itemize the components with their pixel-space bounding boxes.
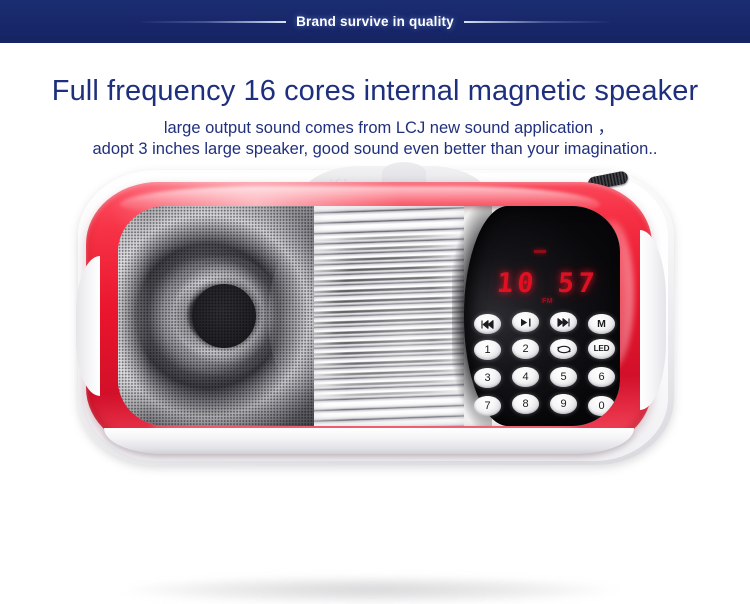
key-1-button[interactable]: 1 <box>474 340 501 360</box>
prev-track-icon <box>481 320 494 329</box>
key-9-button[interactable]: 9 <box>550 394 577 414</box>
top-banner: Brand survive in quality <box>0 0 750 43</box>
led-display: 10 57 FM <box>490 262 606 304</box>
next-track-icon <box>557 318 570 327</box>
key-7-button[interactable]: 7 <box>474 396 501 416</box>
banner-rule-right <box>464 21 609 23</box>
led-digits: 10 57 <box>496 270 600 297</box>
key-2-button[interactable]: 2 <box>512 339 539 359</box>
keypad-row-4: 7 8 9 0 <box>474 394 620 418</box>
speaker-grille <box>118 206 314 426</box>
product-image: LCJ 10 57 FM <box>0 160 750 490</box>
subtitle-line-2: adopt 3 inches large speaker, good sound… <box>0 140 750 159</box>
mode-button[interactable]: M <box>588 314 615 334</box>
key-3-button[interactable]: 3 <box>474 368 501 388</box>
key-8-button[interactable]: 8 <box>512 394 539 414</box>
speaker-driver-ring <box>164 256 284 376</box>
keypad-row-1: M <box>474 312 620 336</box>
subtitle-line-1: large output sound comes from LCJ new so… <box>14 114 750 138</box>
led-band-label: FM <box>542 298 553 305</box>
key-0-button[interactable]: 0 <box>588 396 615 416</box>
next-track-button[interactable] <box>550 312 577 332</box>
key-5-button[interactable]: 5 <box>550 367 577 387</box>
led-indicator-tick <box>534 250 546 253</box>
banner-content: Brand survive in quality <box>0 0 750 43</box>
play-pause-icon <box>520 318 532 327</box>
repeat-loop-icon <box>556 344 572 355</box>
play-pause-button[interactable] <box>512 312 539 332</box>
speaker-driver-core <box>192 284 256 348</box>
product-base-lip <box>104 428 634 454</box>
keypad-row-3: 3 4 5 6 <box>474 367 620 391</box>
banner-rule-left <box>141 21 286 23</box>
page-title: Full frequency 16 cores internal magneti… <box>0 75 750 108</box>
repeat-button[interactable] <box>550 339 577 359</box>
banner-tagline: Brand survive in quality <box>286 14 464 29</box>
key-6-button[interactable]: 6 <box>588 367 615 387</box>
keypad: M 1 2 LED 3 4 <box>474 312 620 416</box>
prev-track-button[interactable] <box>474 314 501 334</box>
product-shadow <box>120 578 620 604</box>
grille-edge-shading <box>118 206 314 426</box>
keypad-row-2: 1 2 LED <box>474 339 620 363</box>
led-button[interactable]: LED <box>588 339 615 359</box>
key-4-button[interactable]: 4 <box>512 367 539 387</box>
vent-slats-sheen <box>314 206 464 426</box>
product-front-panel: 10 57 FM <box>118 206 620 426</box>
